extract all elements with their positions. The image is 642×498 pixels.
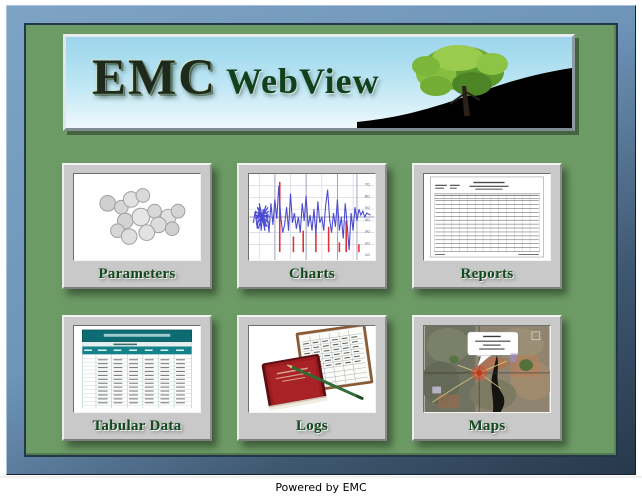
thumbnail-spreadsheet [73, 325, 201, 413]
spreadsheet-table-icon [74, 326, 200, 412]
logbook-icon [249, 326, 375, 412]
tile-label-parameters: Parameters [64, 266, 210, 283]
svg-text:60: 60 [365, 193, 370, 198]
product-title: WebView [226, 63, 380, 99]
svg-text:20: 20 [365, 240, 370, 245]
footer-divider [0, 476, 642, 479]
brand-title: EMC [92, 53, 217, 104]
line-chart-icon: 70 60 50 40 30 20 10 [249, 174, 375, 260]
tile-tabular-data[interactable]: Tabular Data [62, 315, 212, 441]
tile-label-tabular-data: Tabular Data [64, 418, 210, 435]
content-stage: EMC WebView [26, 25, 616, 455]
svg-text:50: 50 [365, 205, 370, 210]
svg-text:10: 10 [365, 252, 370, 257]
tile-maps[interactable]: Maps [412, 315, 562, 441]
tile-grid: Parameters [62, 163, 582, 443]
tile-label-logs: Logs [239, 418, 385, 435]
tile-logs[interactable]: Logs [237, 315, 387, 441]
thumbnail-report [423, 173, 551, 261]
report-document-icon [424, 174, 550, 260]
molecule-diagram-icon [74, 174, 200, 260]
tile-label-reports: Reports [414, 266, 560, 283]
tile-label-charts: Charts [239, 266, 385, 283]
header-banner: EMC WebView [63, 34, 579, 135]
tile-reports[interactable]: Reports [412, 163, 562, 289]
application-window: EMC WebView [0, 0, 642, 498]
tile-charts[interactable]: 70 60 50 40 30 20 10 Charts [237, 163, 387, 289]
thumbnail-logs [248, 325, 376, 413]
banner-panel: EMC WebView [63, 34, 575, 131]
terrain-map-icon [424, 326, 550, 412]
tile-parameters[interactable]: Parameters [62, 163, 212, 289]
footer-text: Powered by EMC [275, 481, 366, 494]
footer-bar: Powered by EMC [0, 476, 642, 498]
svg-text:30: 30 [365, 229, 370, 234]
tile-label-maps: Maps [414, 418, 560, 435]
thumbnail-map [423, 325, 551, 413]
thumbnail-molecule [73, 173, 201, 261]
svg-text:40: 40 [365, 217, 370, 222]
tree-icon [406, 42, 516, 116]
svg-text:70: 70 [365, 182, 370, 187]
thumbnail-chart: 70 60 50 40 30 20 10 [248, 173, 376, 261]
